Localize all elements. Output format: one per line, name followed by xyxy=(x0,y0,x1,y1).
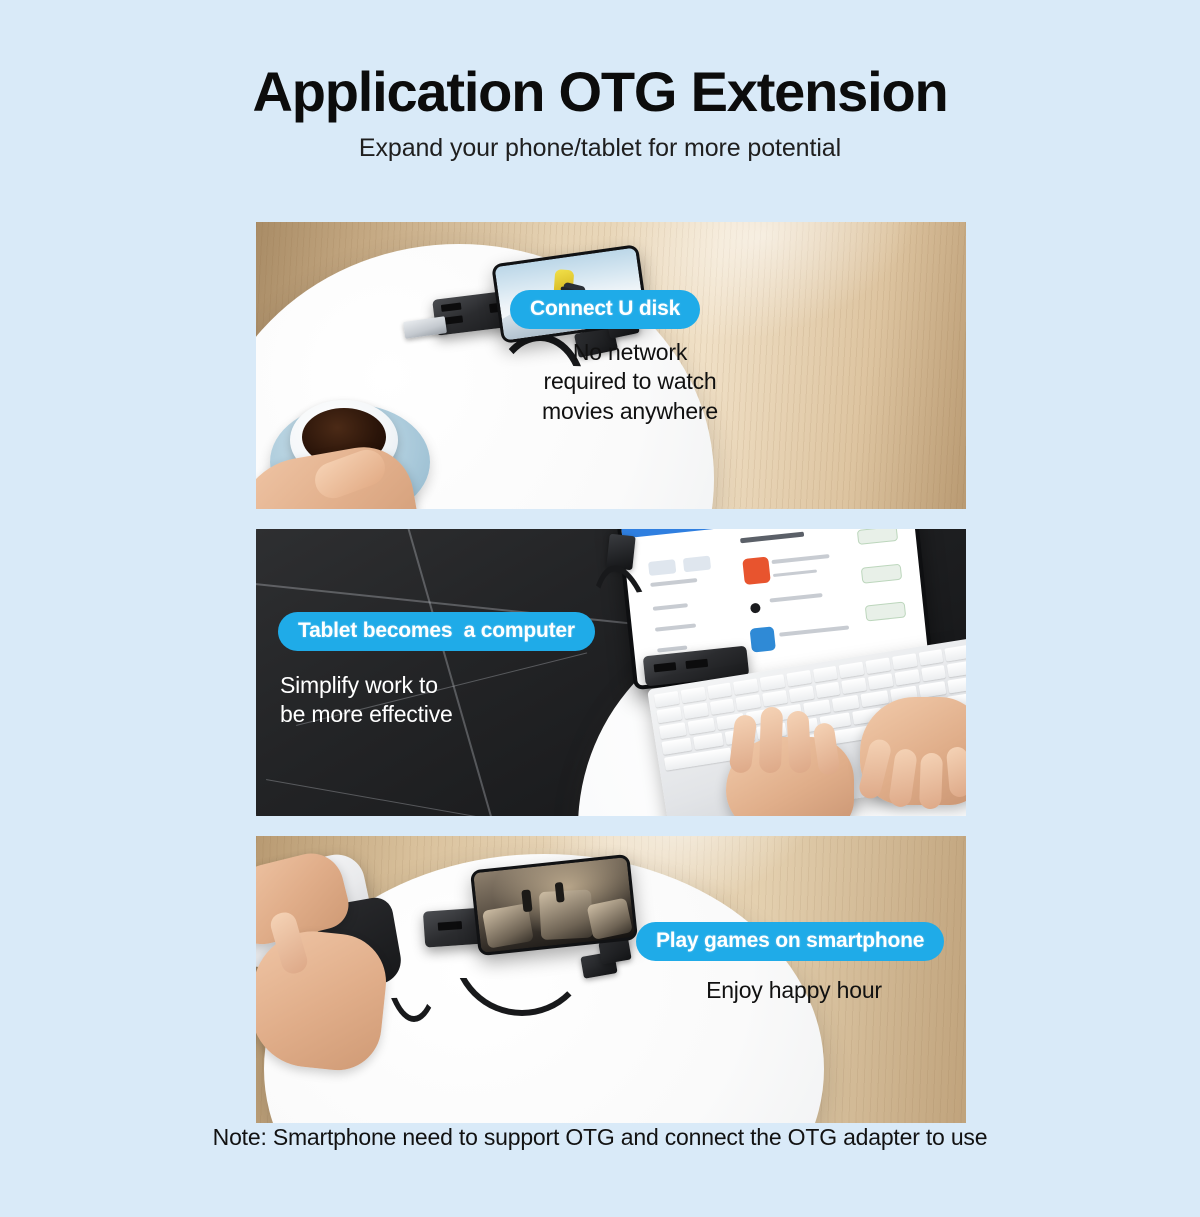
tablet-chip xyxy=(683,556,711,573)
key xyxy=(786,670,811,687)
finger xyxy=(857,737,893,801)
panel-caption-connect-u-disk: No network required to watch movies anyw… xyxy=(512,338,748,426)
key xyxy=(947,677,966,694)
key xyxy=(733,678,758,695)
panel-caption-tablet-becomes-computer: Simplify work to be more effective xyxy=(280,671,580,730)
tablet-text-line xyxy=(771,554,829,564)
tablet-text-line xyxy=(779,625,849,636)
footer-note: Note: Smartphone need to support OTG and… xyxy=(0,1124,1200,1151)
key xyxy=(812,666,837,683)
tablet-text-line xyxy=(653,604,688,612)
tablet-app-icon-blue xyxy=(749,626,775,652)
key xyxy=(736,694,761,711)
finger xyxy=(946,746,966,798)
key xyxy=(945,645,966,662)
key xyxy=(707,683,732,700)
tablet-chip xyxy=(648,559,676,576)
key xyxy=(661,738,692,755)
tablet-bullet-icon xyxy=(750,603,761,614)
game-terrain xyxy=(538,890,593,941)
right-hand-typing xyxy=(860,697,966,805)
hub-port xyxy=(438,921,462,931)
key xyxy=(841,677,866,694)
smartphone xyxy=(470,854,638,956)
tablet-text-line xyxy=(655,624,696,632)
game-terrain xyxy=(586,897,632,940)
hub-port xyxy=(654,662,677,672)
key xyxy=(693,732,724,749)
key xyxy=(894,669,919,686)
finger xyxy=(888,748,918,808)
key xyxy=(803,699,831,716)
feature-panel-tablet-becomes-computer: Tablet becomes a computer Simplify work … xyxy=(256,529,966,816)
left-hand-typing xyxy=(726,737,854,816)
page-header: Application OTG Extension Expand your ph… xyxy=(0,0,1200,163)
finger xyxy=(759,707,783,774)
page-subtitle: Expand your phone/tablet for more potent… xyxy=(0,134,1200,163)
key xyxy=(832,695,860,712)
feature-panel-list: Connect U disk No network required to wa… xyxy=(256,222,966,1143)
tablet-text-line xyxy=(773,569,817,577)
key xyxy=(815,682,840,699)
tablet-action-button xyxy=(860,564,902,584)
tablet-text-line xyxy=(651,578,698,587)
key xyxy=(947,661,966,678)
hub-port xyxy=(441,303,462,312)
panel-badge-connect-u-disk: Connect U disk xyxy=(510,290,700,329)
key xyxy=(892,653,917,670)
panel-badge-play-games-on-smartphone: Play games on smartphone xyxy=(636,922,944,961)
feature-panel-play-games-on-smartphone: Play games on smartphone Enjoy happy hou… xyxy=(256,836,966,1123)
key xyxy=(709,698,734,715)
key xyxy=(654,691,679,708)
tablet-action-button xyxy=(856,529,898,545)
game-character xyxy=(522,890,533,913)
key xyxy=(868,673,893,690)
key xyxy=(839,662,864,679)
panel-caption-play-games-on-smartphone: Enjoy happy hour xyxy=(638,976,950,1005)
finger xyxy=(786,710,811,773)
key xyxy=(659,722,687,739)
key xyxy=(861,690,889,707)
key xyxy=(918,649,943,666)
key xyxy=(680,687,705,704)
key xyxy=(921,665,946,682)
game-video-frame xyxy=(473,857,635,953)
panel-badge-tablet-becomes-computer: Tablet becomes a computer xyxy=(278,612,595,651)
finger xyxy=(919,753,943,810)
key xyxy=(683,703,708,720)
key xyxy=(656,707,681,724)
game-character xyxy=(555,882,565,903)
key xyxy=(865,657,890,674)
tablet-app-icon-red xyxy=(742,557,771,586)
key xyxy=(760,674,785,691)
tablet-text-line xyxy=(770,593,823,602)
key xyxy=(688,718,716,735)
page-title: Application OTG Extension xyxy=(0,62,1200,122)
key xyxy=(762,690,787,707)
key xyxy=(789,686,814,703)
hub-port xyxy=(685,659,708,669)
tablet-section-title xyxy=(740,532,804,544)
tablet-app-header xyxy=(620,529,727,539)
otg-connector xyxy=(606,534,635,571)
phone-screen xyxy=(473,857,635,953)
tablet-action-button xyxy=(864,602,906,622)
key xyxy=(918,681,946,698)
feature-panel-connect-u-disk: Connect U disk No network required to wa… xyxy=(256,222,966,509)
